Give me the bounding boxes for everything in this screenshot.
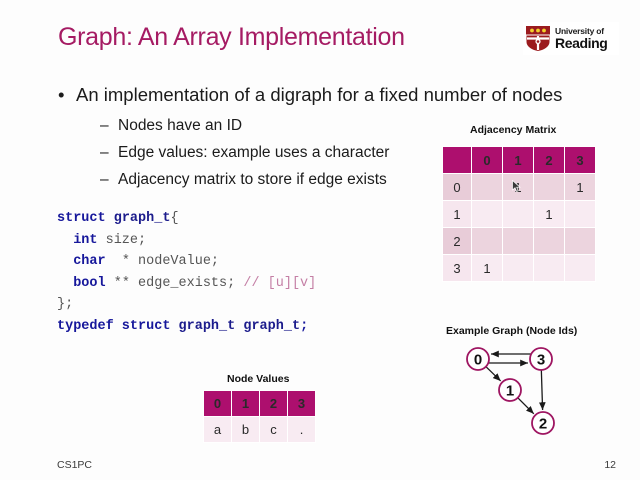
graph-node-label-1: 1 — [506, 383, 514, 400]
logo-line-reading: Reading — [555, 36, 607, 50]
matrix-cell-3-2[interactable] — [534, 255, 565, 282]
graph-node-label-2: 2 — [539, 416, 547, 433]
node-values-id-3: 3 — [288, 391, 316, 417]
code-line: struct graph_t{ — [57, 208, 316, 230]
code-token-kw: ; — [300, 319, 308, 334]
shield-crest-icon — [525, 25, 551, 52]
code-token-id — [57, 276, 73, 291]
graph-edge-3-to-2 — [541, 369, 542, 410]
graph-edge-1-to-2 — [517, 397, 534, 414]
code-token-cmt: // [u][v] — [243, 276, 316, 291]
code-token-type: graph_t graph_t — [179, 319, 301, 334]
page-title: Graph: An Array Implementation — [58, 23, 405, 52]
footer-page-number: 12 — [604, 459, 616, 471]
sub-bullet-2: –Edge values: example uses a character — [100, 144, 389, 162]
matrix-cell-0-0[interactable] — [472, 174, 503, 201]
matrix-cell-2-0[interactable] — [472, 228, 503, 255]
logo-line-university: University of — [555, 27, 607, 36]
matrix-row: 11 — [443, 201, 596, 228]
example-graph-caption: Example Graph (Node Ids) — [446, 325, 577, 337]
sub-bullet-2-text: Edge values: example uses a character — [118, 144, 389, 161]
matrix-row-header-2: 2 — [443, 228, 472, 255]
sub-bullet-3: –Adjacency matrix to store if edge exist… — [100, 171, 387, 189]
node-values-value-3[interactable]: . — [288, 417, 316, 443]
graph-edge-0-to-1 — [485, 366, 500, 381]
matrix-row-header-1: 1 — [443, 201, 472, 228]
matrix-col-header-3: 3 — [565, 147, 596, 174]
code-token-id: * nodeValue; — [114, 254, 219, 269]
code-line: typedef struct graph_t graph_t; — [57, 316, 316, 338]
code-line: }; — [57, 294, 316, 316]
node-values-caption: Node Values — [227, 373, 289, 385]
slide-canvas: Graph: An Array Implementation Universit… — [0, 0, 640, 480]
mouse-cursor-icon — [512, 180, 521, 193]
bullet-main-text: An implementation of a digraph for a fix… — [76, 84, 562, 105]
university-logo: University of Reading — [523, 22, 619, 55]
matrix-row-header-3: 3 — [443, 255, 472, 282]
matrix-col-header-0: 0 — [472, 147, 503, 174]
code-line: int size; — [57, 230, 316, 252]
matrix-cell-1-0[interactable] — [472, 201, 503, 228]
node-values-id-1: 1 — [232, 391, 260, 417]
code-token-type: graph_t — [114, 211, 171, 226]
code-token-kw: bool — [73, 276, 114, 291]
matrix-col-header-2: 2 — [534, 147, 565, 174]
matrix-cell-2-1[interactable] — [503, 228, 534, 255]
sub-bullet-1: –Nodes have an ID — [100, 117, 242, 135]
node-values-value-row: abc. — [204, 417, 316, 443]
matrix-cell-3-1[interactable] — [503, 255, 534, 282]
logo-wordmark: University of Reading — [555, 27, 607, 51]
code-token-kw: int — [73, 233, 105, 248]
node-values-id-2: 2 — [260, 391, 288, 417]
node-values-value-2[interactable]: c — [260, 417, 288, 443]
code-token-id: ** edge_exists; — [114, 276, 244, 291]
matrix-row: 31 — [443, 255, 596, 282]
matrix-col-header-1: 1 — [503, 147, 534, 174]
code-token-kw: struct — [57, 211, 114, 226]
sub-bullet-marker: – — [100, 117, 118, 135]
adjacency-matrix-caption: Adjacency Matrix — [470, 124, 556, 136]
matrix-cell-1-2[interactable]: 1 — [534, 201, 565, 228]
matrix-corner-cell — [443, 147, 472, 174]
matrix-cell-3-3[interactable] — [565, 255, 596, 282]
bullet-main: •An implementation of a digraph for a fi… — [58, 84, 562, 106]
code-token-punct: }; — [57, 297, 73, 312]
code-token-id — [57, 233, 73, 248]
bullet-marker: • — [58, 84, 76, 106]
graph-nodes: 0312 — [467, 348, 554, 434]
matrix-cell-0-3[interactable]: 1 — [565, 174, 596, 201]
sub-bullet-3-text: Adjacency matrix to store if edge exists — [118, 171, 387, 188]
code-line: char * nodeValue; — [57, 251, 316, 273]
matrix-cell-2-2[interactable] — [534, 228, 565, 255]
code-line: bool ** edge_exists; // [u][v] — [57, 273, 316, 295]
example-graph-diagram: 0312 — [455, 340, 575, 440]
sub-bullet-marker: – — [100, 144, 118, 162]
code-block: struct graph_t{ int size; char * nodeVal… — [57, 208, 316, 337]
node-values-id-0: 0 — [204, 391, 232, 417]
matrix-cell-3-0[interactable]: 1 — [472, 255, 503, 282]
node-values-value-1[interactable]: b — [232, 417, 260, 443]
graph-node-label-0: 0 — [474, 352, 482, 369]
matrix-cell-2-3[interactable] — [565, 228, 596, 255]
code-token-punct: { — [170, 211, 178, 226]
adjacency-matrix-table: 012301111231 — [442, 146, 596, 282]
code-token-id — [57, 254, 73, 269]
matrix-cell-1-1[interactable] — [503, 201, 534, 228]
code-token-kw: typedef struct — [57, 319, 179, 334]
node-values-header-row: 0123 — [204, 391, 316, 417]
matrix-header-row: 0123 — [443, 147, 596, 174]
matrix-row-header-0: 0 — [443, 174, 472, 201]
code-token-id: size; — [106, 233, 147, 248]
node-values-table: 0123abc. — [203, 390, 316, 443]
matrix-cell-1-3[interactable] — [565, 201, 596, 228]
node-values-value-0[interactable]: a — [204, 417, 232, 443]
footer-course-code: CS1PC — [57, 459, 92, 471]
code-token-kw: char — [73, 254, 114, 269]
sub-bullet-1-text: Nodes have an ID — [118, 117, 242, 134]
matrix-cell-0-2[interactable] — [534, 174, 565, 201]
sub-bullet-marker: – — [100, 171, 118, 189]
matrix-row: 2 — [443, 228, 596, 255]
graph-node-label-3: 3 — [537, 352, 545, 369]
